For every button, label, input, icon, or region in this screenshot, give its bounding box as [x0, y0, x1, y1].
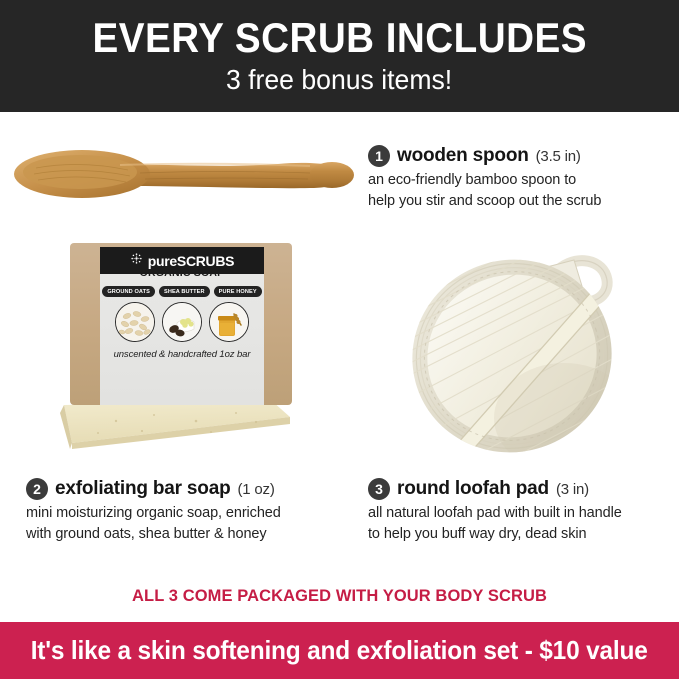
ingredient-pill: PURE HONEY: [214, 286, 262, 297]
item-1-description: an eco-friendly bamboo spoon to help you…: [368, 170, 673, 212]
item-1-heading: 1 wooden spoon (3.5 in): [368, 145, 673, 167]
header-banner: EVERY SCRUB INCLUDES 3 free bonus items!: [0, 0, 679, 112]
footer-value-text: It's like a skin softening and exfoliati…: [31, 635, 648, 666]
item-3-description-line-2: to help you buff way dry, dead skin: [368, 524, 673, 545]
soap-label: pureSCRUBS EXFOLIATING OATMEAL ORGANIC S…: [100, 247, 264, 405]
item-2-title: exfoliating bar soap: [55, 478, 230, 500]
badge-number-2: 2: [26, 478, 48, 500]
footer-value-bar: It's like a skin softening and exfoliati…: [0, 622, 679, 679]
brand-bar: pureSCRUBS: [100, 247, 264, 274]
ingredient-pill-row: GROUND OATS SHEA BUTTER PURE HONEY: [100, 286, 264, 297]
item-3-size: (3 in): [556, 481, 589, 498]
loofah-pad-image: [404, 238, 629, 460]
item-2-description: mini moisturizing organic soap, enriched…: [26, 503, 356, 545]
item-3-text-block: 3 round loofah pad (3 in) all natural lo…: [368, 478, 673, 545]
item-3-title: round loofah pad: [397, 478, 549, 500]
page-title: EVERY SCRUB INCLUDES: [92, 17, 586, 59]
item-2-text-block: 2 exfoliating bar soap (1 oz) mini moist…: [26, 478, 356, 545]
item-2-description-line-1: mini moisturizing organic soap, enriched: [26, 503, 356, 524]
soap-tagline: unscented & handcrafted 1oz bar: [100, 349, 264, 360]
footer-note: ALL 3 COME PACKAGED WITH YOUR BODY SCRUB: [10, 586, 669, 606]
item-2-heading: 2 exfoliating bar soap (1 oz): [26, 478, 356, 500]
oats-photo: [115, 302, 155, 342]
ingredient-photo-row: [100, 302, 264, 342]
ingredient-pill: GROUND OATS: [102, 286, 155, 297]
infographic-page: EVERY SCRUB INCLUDES 3 free bonus items!: [0, 0, 679, 679]
shea-photo: [162, 302, 202, 342]
item-1-description-line-2: help you stir and scoop out the scrub: [368, 191, 673, 212]
honey-photo: [209, 302, 249, 342]
item-1-text-block: 1 wooden spoon (3.5 in) an eco-friendly …: [368, 145, 673, 212]
wooden-spoon-image: [10, 140, 355, 210]
badge-number-1: 1: [368, 145, 390, 167]
item-1-size: (3.5 in): [536, 148, 581, 165]
item-1-title: wooden spoon: [397, 145, 529, 167]
page-subtitle: 3 free bonus items!: [226, 65, 452, 94]
item-3-heading: 3 round loofah pad (3 in): [368, 478, 673, 500]
item-2-size: (1 oz): [237, 481, 274, 498]
item-1-description-line-1: an eco-friendly bamboo spoon to: [368, 170, 673, 191]
item-3-description-line-1: all natural loofah pad with built in han…: [368, 503, 673, 524]
mandala-icon: [130, 252, 143, 270]
item-2-description-line-2: with ground oats, shea butter & honey: [26, 524, 356, 545]
bar-soap-image: pureSCRUBS EXFOLIATING OATMEAL ORGANIC S…: [44, 243, 319, 458]
ingredient-pill: SHEA BUTTER: [159, 286, 210, 297]
item-3-description: all natural loofah pad with built in han…: [368, 503, 673, 545]
badge-number-3: 3: [368, 478, 390, 500]
brand-name: pureSCRUBS: [148, 253, 234, 269]
